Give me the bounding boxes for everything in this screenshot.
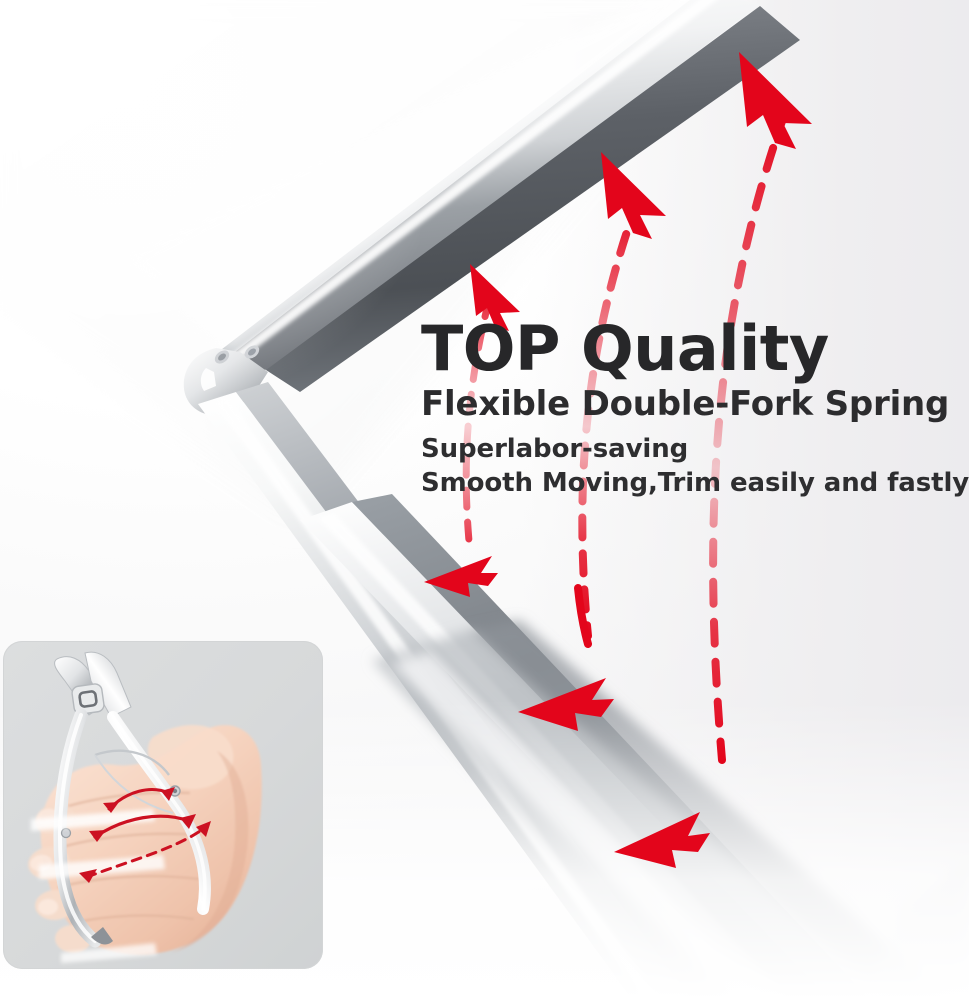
page-title: TOP Quality <box>421 318 921 380</box>
copy-block: TOP Quality Flexible Double-Fork Spring … <box>421 318 921 501</box>
benefit-line-2: Smooth Moving,Trim easily and fastly <box>421 466 921 500</box>
subheadline: Flexible Double-Fork Spring <box>421 386 921 422</box>
benefit-line-1: Superlabor-saving <box>421 432 921 466</box>
in-hand-usage-thumbnail <box>3 641 323 969</box>
product-marketing-image: TOP Quality Flexible Double-Fork Spring … <box>0 0 969 1000</box>
